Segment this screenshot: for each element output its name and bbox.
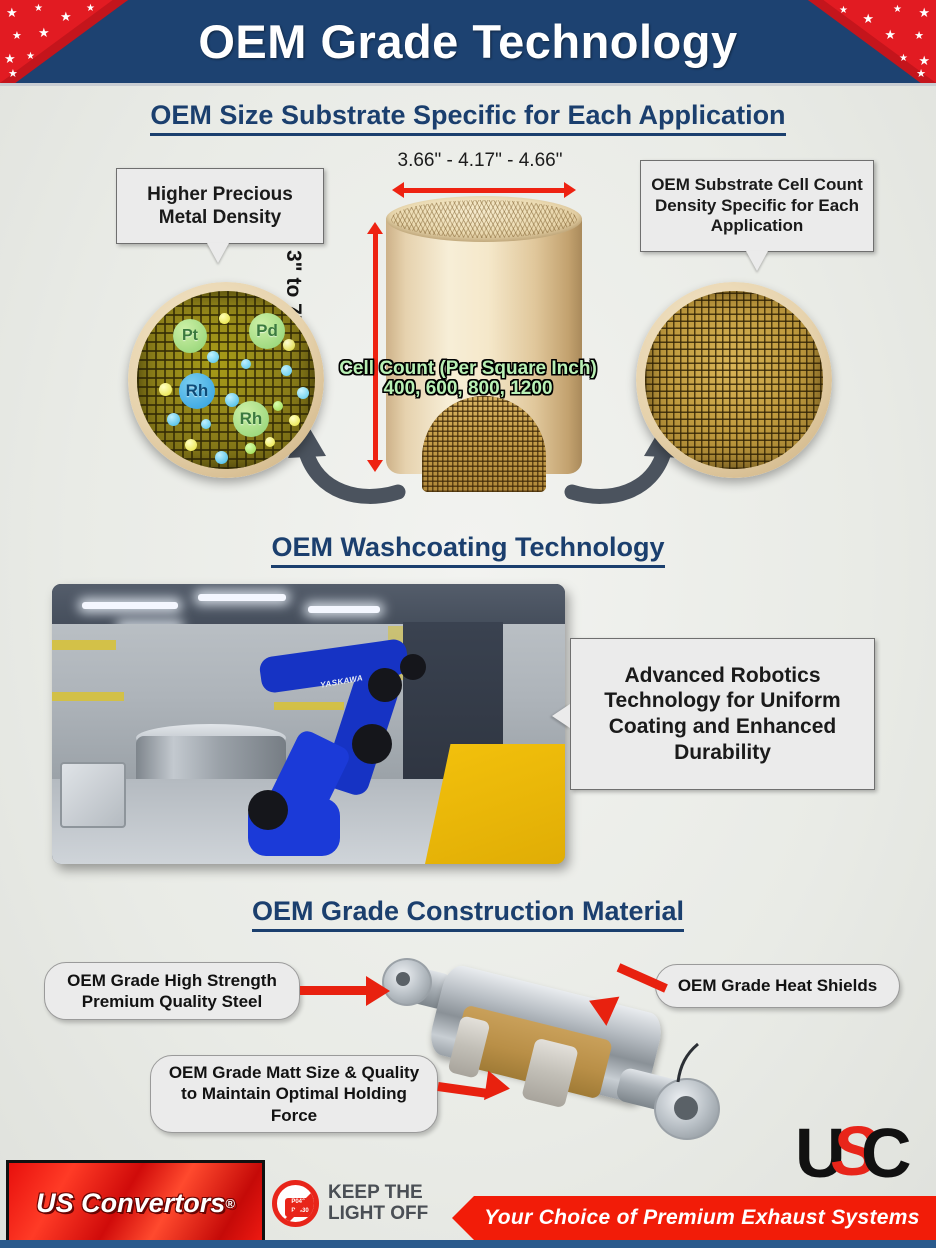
- particle: [283, 339, 295, 351]
- callout-text: Advanced Robotics Technology for Uniform…: [577, 663, 868, 765]
- particle: [215, 451, 228, 464]
- infographic-page: ★ ★ ★ ★ ★ ★ ★ ★ ★ ★ ★ ★ ★ ★ ★ ★ ★ ★ OEM …: [0, 0, 936, 1248]
- oxygen-sensor-wire-icon: [664, 1042, 704, 1090]
- arrow-to-steel: [300, 986, 368, 995]
- particle: [273, 401, 283, 411]
- callout-text: OEM Substrate Cell Count Density Specifi…: [647, 175, 867, 237]
- cutaway-honeycomb-mesh: [422, 396, 546, 492]
- callout-text: Higher Precious Metal Density: [123, 183, 317, 229]
- cylinder-cutaway: [422, 396, 546, 492]
- section-heading-construction: OEM Grade Construction Material: [0, 896, 936, 927]
- particle: [167, 413, 180, 426]
- keep-the-light-off-badge: P0420 P0430 KEEP THE LIGHT OFF: [272, 1178, 442, 1230]
- arrow-shaft: [402, 188, 566, 193]
- callout-premium-steel: OEM Grade High Strength Premium Quality …: [44, 962, 300, 1020]
- callout-advanced-robotics: Advanced Robotics Technology for Uniform…: [570, 638, 875, 790]
- control-panel: [60, 762, 126, 828]
- diameter-label: 3.66" - 4.17" - 4.66": [330, 150, 630, 172]
- cell-count-title: Cell Count (Per Square Inch): [0, 358, 936, 380]
- arrow-head-icon: [366, 976, 390, 1006]
- robot-wrist: [400, 654, 426, 680]
- substrate-cylinder: [386, 196, 582, 492]
- flange-bore: [674, 1096, 698, 1120]
- yellow-conveyor-rail: [425, 744, 565, 864]
- callout-matt-size: OEM Grade Matt Size & Quality to Maintai…: [150, 1055, 438, 1133]
- robot-joint: [352, 724, 392, 764]
- brand-plate-text: US Convertors®: [9, 1163, 262, 1243]
- metal-label-pt: Pt: [173, 319, 207, 353]
- keep-line-1: KEEP THE: [328, 1182, 428, 1203]
- callout-tail: [552, 704, 570, 728]
- brand-name: US Convertors: [36, 1188, 225, 1219]
- metal-symbol: Pt: [182, 327, 198, 345]
- tagline-band: Your Choice of Premium Exhaust Systems: [452, 1196, 936, 1240]
- particle: [219, 313, 230, 324]
- particle: [201, 419, 211, 429]
- particle: [185, 439, 197, 451]
- footer-bottom-band: [0, 1240, 936, 1248]
- section-heading-substrate: OEM Size Substrate Specific for Each App…: [0, 100, 936, 131]
- callout-heat-shields: OEM Grade Heat Shields: [655, 964, 900, 1008]
- arrow-head-up-icon: [367, 222, 383, 234]
- warehouse-rack: [274, 702, 344, 710]
- page-header: ★ ★ ★ ★ ★ ★ ★ ★ ★ ★ ★ ★ ★ ★ ★ ★ ★ ★ OEM …: [0, 0, 936, 83]
- page-title: OEM Grade Technology: [0, 0, 936, 83]
- cylinder-top-face: [386, 196, 582, 242]
- particle: [245, 443, 256, 454]
- callout-text: OEM Grade Heat Shields: [678, 975, 877, 996]
- particle: [265, 437, 275, 447]
- registered-mark: ®: [225, 1196, 235, 1211]
- section-heading-substrate-text: OEM Size Substrate Specific for Each App…: [150, 100, 785, 136]
- callout-text: OEM Grade Matt Size & Quality to Maintai…: [161, 1062, 427, 1126]
- metal-symbol: Pd: [256, 321, 278, 341]
- top-honeycomb-mesh: [391, 200, 577, 238]
- section-heading-washcoating: OEM Washcoating Technology: [0, 532, 936, 563]
- metal-label-pd: Pd: [249, 313, 285, 349]
- logo-letter-c: C: [861, 1118, 912, 1188]
- diameter-arrow: [392, 184, 576, 196]
- robot-joint: [248, 790, 288, 830]
- robotics-photo: YASKAWA: [52, 584, 565, 864]
- us-convertors-brand-plate: US Convertors®: [6, 1160, 265, 1246]
- metal-label-rh-green: Rh: [233, 401, 269, 437]
- warehouse-rack: [52, 692, 124, 701]
- keep-line-2: LIGHT OFF: [328, 1203, 428, 1224]
- ceiling-light: [198, 594, 286, 601]
- metal-symbol: Rh: [240, 409, 263, 429]
- arrow-head-icon: [484, 1070, 512, 1103]
- ceiling-light: [82, 602, 178, 609]
- header-divider: [0, 83, 936, 86]
- section-heading-construction-text: OEM Grade Construction Material: [252, 896, 684, 932]
- callout-tail: [207, 243, 229, 263]
- keep-the-light-off-text: KEEP THE LIGHT OFF: [328, 1182, 428, 1224]
- tagline-text: Your Choice of Premium Exhaust Systems: [468, 1206, 919, 1230]
- callout-tail: [746, 251, 768, 271]
- callout-text: OEM Grade High Strength Premium Quality …: [55, 970, 289, 1013]
- cell-count-values: 400, 600, 800, 1200: [0, 378, 936, 400]
- callout-higher-precious-metal-density: Higher Precious Metal Density: [116, 168, 324, 244]
- usc-logo: U S C: [795, 1118, 925, 1190]
- flange-bore: [396, 972, 410, 986]
- robot-joint: [368, 668, 402, 702]
- ceiling-light: [308, 606, 380, 613]
- no-dtc-icon: P0420 P0430: [272, 1180, 319, 1227]
- warehouse-rack: [52, 640, 116, 650]
- callout-oem-substrate-cell-count: OEM Substrate Cell Count Density Specifi…: [640, 160, 874, 252]
- particle: [289, 415, 300, 426]
- section-heading-washcoating-text: OEM Washcoating Technology: [271, 532, 664, 568]
